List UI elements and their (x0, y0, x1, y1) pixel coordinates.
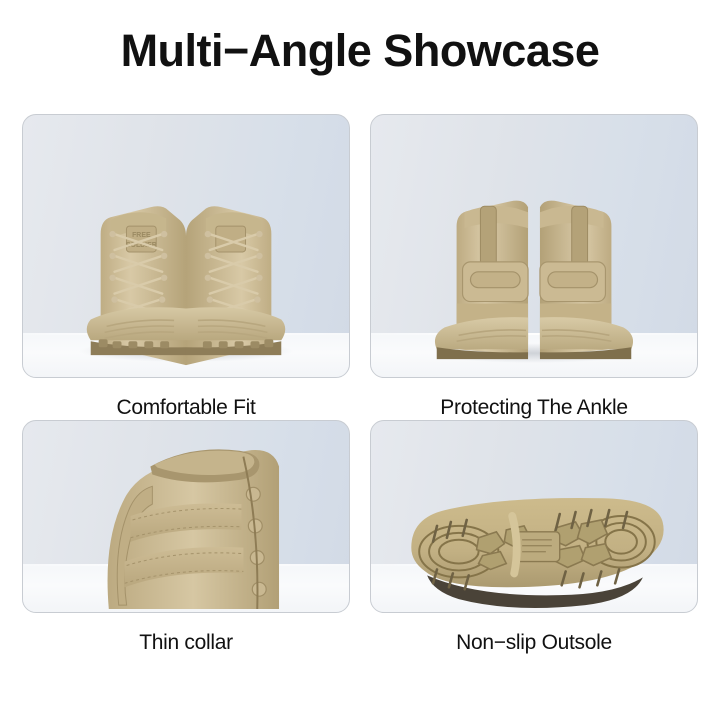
panel-grid: FREE SOLDIER (22, 114, 698, 651)
panel-caption-collar-closeup: Thin collar (22, 631, 350, 655)
panel-caption-outsole-view: Non−slip Outsole (370, 631, 698, 655)
boot-rear-pair-illustration (371, 115, 697, 377)
image-panel-rear-view[interactable] (370, 114, 698, 378)
panel-cell-front-view: FREE SOLDIER (22, 114, 350, 420)
image-panel-outsole-view[interactable] (370, 420, 698, 613)
panel-cell-outsole-view: Non−slip Outsole (370, 420, 698, 651)
page-title: Multi−Angle Showcase (0, 28, 720, 73)
boot-collar-detail-illustration (23, 421, 349, 612)
image-panel-front-view[interactable]: FREE SOLDIER (22, 114, 350, 378)
boot-front-pair-illustration: FREE SOLDIER (23, 115, 349, 377)
boot-outsole-illustration (371, 421, 697, 612)
panel-caption-front-view: Comfortable Fit (22, 396, 350, 420)
showcase-page: Multi−Angle Showcase (0, 0, 720, 720)
panel-cell-collar-closeup: Thin collar (22, 420, 350, 651)
panel-cell-rear-view: Protecting The Ankle (370, 114, 698, 420)
panel-caption-rear-view: Protecting The Ankle (370, 396, 698, 420)
image-panel-collar-closeup[interactable] (22, 420, 350, 613)
